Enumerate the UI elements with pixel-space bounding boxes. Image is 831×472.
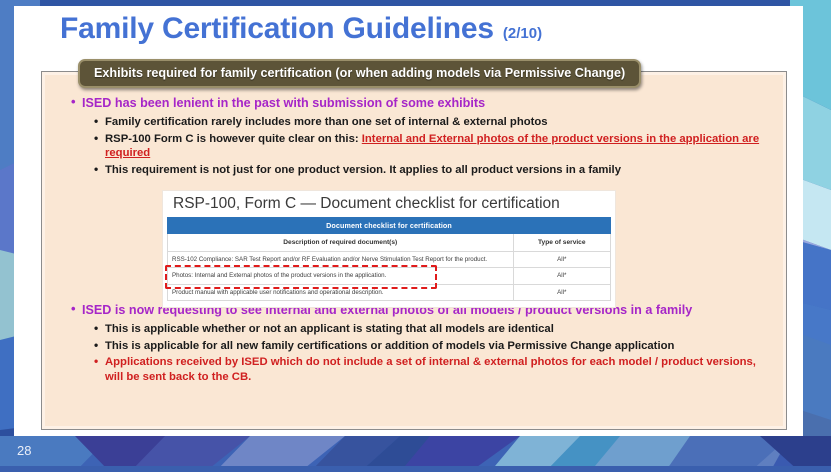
document-checklist-table: Document checklist for certification Des…	[167, 217, 611, 301]
table-cell-description: RSS-102 Compliance: SAR Test Report and/…	[168, 252, 514, 268]
table-banner-row: Document checklist for certification	[168, 218, 611, 234]
bullet-section-two-sub-3: Applications received by ISED which do n…	[94, 355, 772, 384]
figure-table-wrapper: Document checklist for certification Des…	[163, 217, 615, 301]
section-banner: Exhibits required for family certificati…	[78, 59, 641, 88]
table-banner-cell: Document checklist for certification	[168, 218, 611, 234]
page-title-counter: (2/10)	[503, 26, 542, 41]
table-row: Photos: Internal and External photos of …	[168, 268, 611, 284]
table-row: RSS-102 Compliance: SAR Test Report and/…	[168, 252, 611, 268]
table-cell-description: Photos: Internal and External photos of …	[168, 268, 514, 284]
table-cell-service: All*	[513, 268, 610, 284]
bullet-section-one-lead: ISED has been lenient in the past with s…	[71, 95, 772, 111]
section-banner-box: Exhibits required for family certificati…	[78, 59, 641, 88]
rsp100-form-c-figure: RSP-100, Form C — Document checklist for…	[162, 190, 616, 308]
bullet-section-one-sub-3: This requirement is not just for one pro…	[94, 163, 772, 178]
page-title: Family Certification Guidelines (2/10)	[60, 14, 542, 44]
table-row: Product manual with applicable user noti…	[168, 284, 611, 300]
bullet-section-two-sub-1: This is applicable whether or not an app…	[94, 322, 772, 337]
page-title-main: Family Certification Guidelines	[60, 14, 494, 44]
slide-root: Family Certification Guidelines (2/10) I…	[0, 0, 831, 472]
bullet-section-two-sub-2: This is applicable for all new family ce…	[94, 339, 772, 354]
bullet-section-one-sub-2: RSP-100 Form C is however quite clear on…	[94, 132, 772, 161]
bullet-section-one-sub-2-prefix: RSP-100 Form C is however quite clear on…	[105, 133, 362, 145]
page-number: 28	[17, 443, 31, 458]
table-cell-service: All*	[513, 284, 610, 300]
table-cell-service: All*	[513, 252, 610, 268]
table-header-row: Description of required document(s) Type…	[168, 234, 611, 252]
bullet-section-one-sub-1: Family certification rarely includes mor…	[94, 115, 772, 130]
table-cell-description: Product manual with applicable user noti…	[168, 284, 514, 300]
table-header-description: Description of required document(s)	[168, 234, 514, 252]
table-header-service: Type of service	[513, 234, 610, 252]
section-banner-label: Exhibits required for family certificati…	[94, 66, 625, 80]
figure-caption: RSP-100, Form C — Document checklist for…	[163, 191, 615, 217]
